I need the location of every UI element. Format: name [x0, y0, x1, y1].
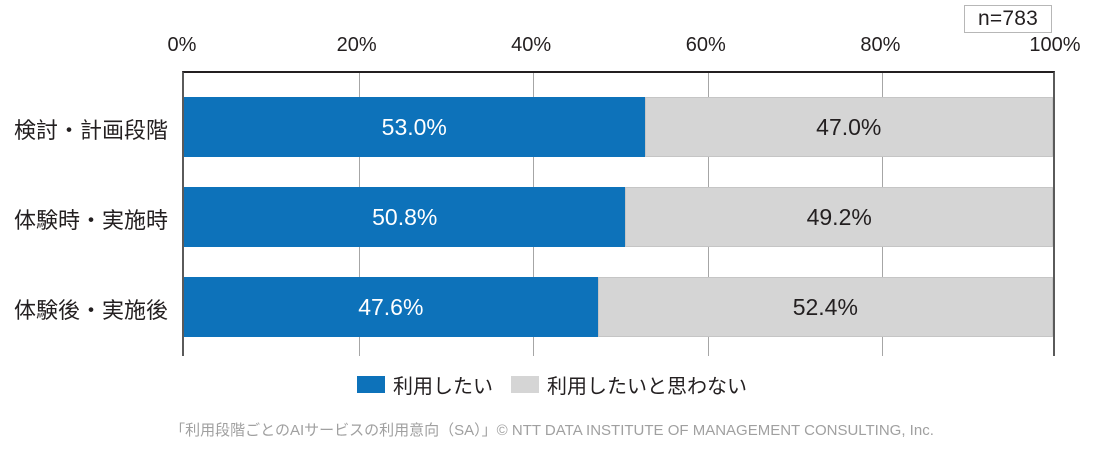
bar-value-label: 50.8% — [372, 204, 437, 231]
bar-value-label: 53.0% — [382, 114, 447, 141]
plot-area: 53.0%47.0%50.8%49.2%47.6%52.4% — [182, 71, 1055, 356]
x-tick-label: 80% — [860, 34, 900, 57]
x-tick-label: 40% — [511, 34, 551, 57]
bar-segment[interactable]: 53.0% — [184, 97, 645, 157]
legend-label: 利用したい — [393, 370, 493, 399]
x-tick-label: 100% — [1029, 34, 1080, 57]
bar-row: 47.6%52.4% — [184, 277, 1053, 337]
bar-segment[interactable]: 47.6% — [184, 277, 598, 337]
bar-value-label: 47.6% — [358, 294, 423, 321]
category-label: 体験時・実施時 — [8, 203, 174, 235]
bar-segment[interactable]: 50.8% — [184, 187, 625, 247]
legend: 利用したい利用したいと思わない — [0, 370, 1104, 399]
bar-segment[interactable]: 52.4% — [598, 277, 1053, 337]
bar-row: 50.8%49.2% — [184, 187, 1053, 247]
legend-swatch-icon — [357, 376, 385, 393]
sample-size-badge: n=783 — [964, 5, 1052, 33]
chart-caption: 「利用段階ごとのAIサービスの利用意向（SA）」© NTT DATA INSTI… — [0, 419, 1104, 440]
x-tick-label: 60% — [686, 34, 726, 57]
legend-swatch-icon — [511, 376, 539, 393]
bar-value-label: 49.2% — [807, 204, 872, 231]
category-label: 体験後・実施後 — [8, 293, 174, 325]
bar-value-label: 52.4% — [793, 294, 858, 321]
bar-value-label: 47.0% — [816, 114, 881, 141]
x-tick-label: 20% — [337, 34, 377, 57]
legend-label: 利用したいと思わない — [547, 370, 747, 399]
x-tick-label: 0% — [168, 34, 197, 57]
bar-segment[interactable]: 47.0% — [645, 97, 1053, 157]
legend-item[interactable]: 利用したいと思わない — [511, 370, 747, 399]
bar-rows: 53.0%47.0%50.8%49.2%47.6%52.4% — [184, 73, 1053, 356]
bar-segment[interactable]: 49.2% — [625, 187, 1053, 247]
x-axis-tick-labels: 0%20%40%60%80%100% — [0, 34, 1104, 58]
bar-row: 53.0%47.0% — [184, 97, 1053, 157]
legend-item[interactable]: 利用したい — [357, 370, 493, 399]
sample-size-label: n=783 — [978, 7, 1038, 31]
chart-page: n=783 0%20%40%60%80%100% 53.0%47.0%50.8%… — [0, 0, 1104, 454]
category-label: 検討・計画段階 — [8, 113, 174, 145]
